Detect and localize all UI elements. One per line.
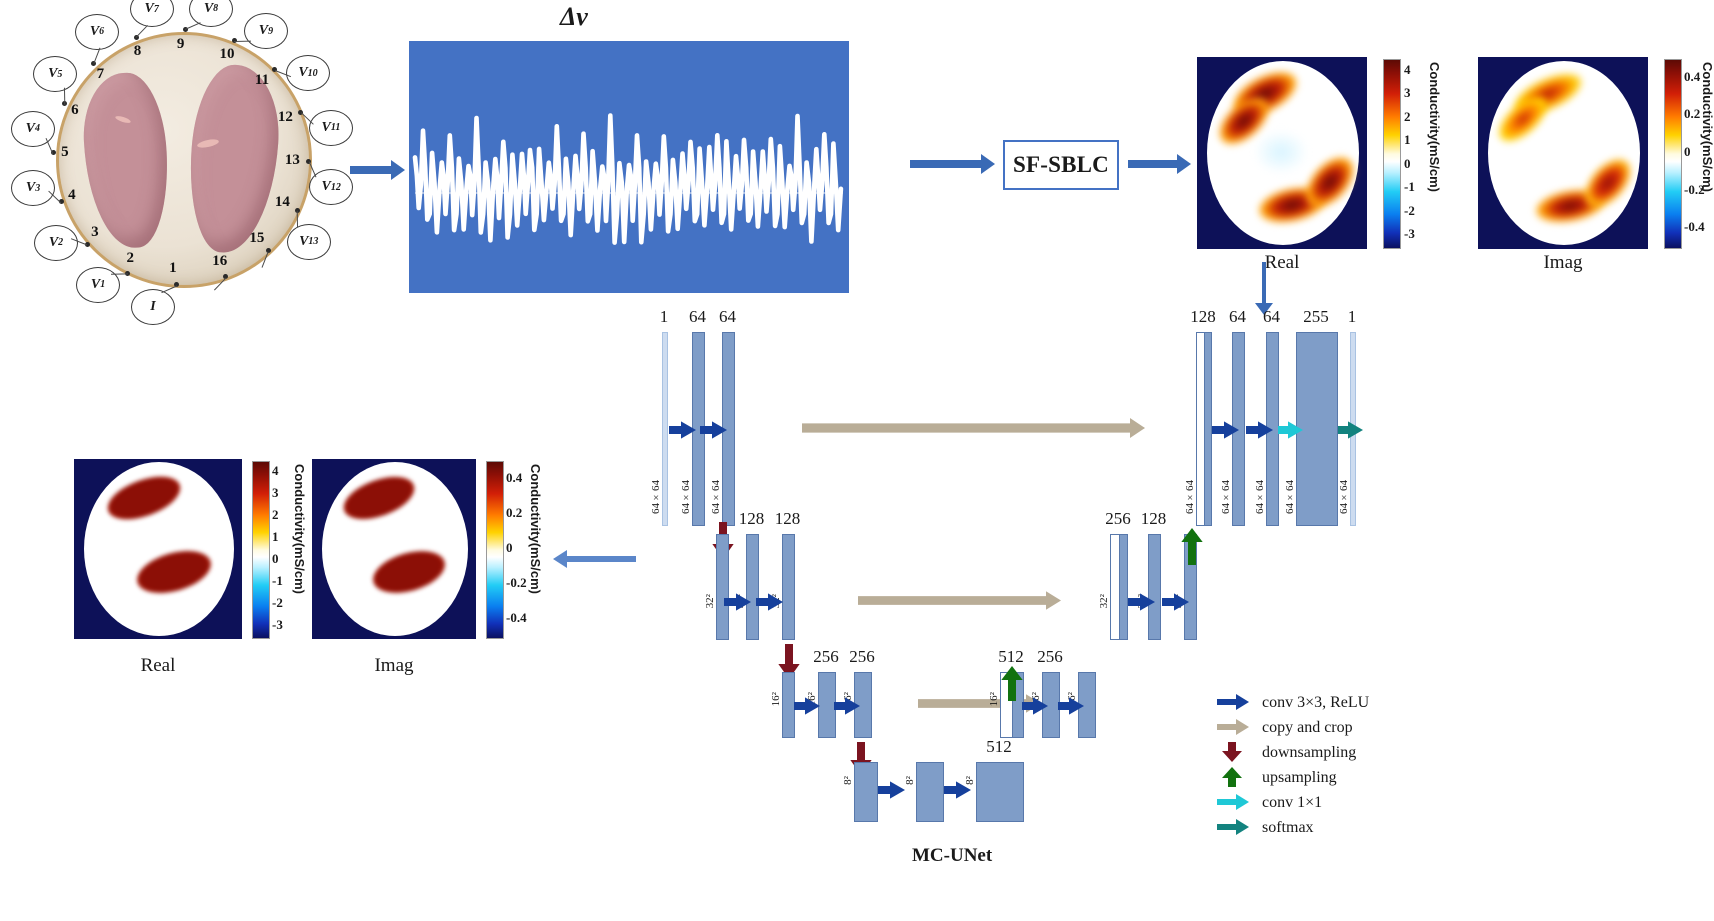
recon-bottom-imag-colorbar-label: Conductivity(mS/cm) bbox=[528, 464, 543, 594]
legend-item: conv 3×3, ReLU bbox=[1216, 690, 1369, 715]
unet-resolution-label: 64×64 bbox=[1220, 480, 1232, 514]
electrode-node-v6: V6 bbox=[75, 14, 119, 50]
unet-arrow bbox=[1022, 694, 1049, 718]
arrow-right-blue bbox=[1216, 691, 1250, 713]
unet-channel-label: 128 bbox=[726, 509, 778, 529]
unet-resolution-label: 64×64 bbox=[1184, 480, 1196, 514]
unet-feature-block bbox=[916, 762, 944, 822]
phantom-electrode-diagram: IV1V2V3V4V5V6V7V8V9V10V11V12V13123456789… bbox=[10, 4, 350, 324]
legend-item: upsampling bbox=[1216, 765, 1369, 790]
unet-channel-label: 1 bbox=[1326, 307, 1378, 327]
unet-channel-label: 256 bbox=[836, 647, 888, 667]
recon-top-real-colorbar-label: Conductivity(mS/cm) bbox=[1427, 62, 1442, 192]
legend-label: conv 3×3, ReLU bbox=[1262, 694, 1369, 712]
recon-top-real-caption: Real bbox=[1197, 252, 1367, 274]
unet-feature-block bbox=[1350, 332, 1356, 526]
unet-resolution-label: 64×64 bbox=[710, 480, 722, 514]
electrode-number-3: 3 bbox=[91, 224, 99, 241]
unet-resolution-label: 16² bbox=[988, 692, 1000, 706]
unet-resolution-label: 16² bbox=[842, 692, 854, 706]
legend-item: downsampling bbox=[1216, 740, 1369, 765]
unet-channel-label: 512 bbox=[985, 647, 1037, 667]
unet-feature-block bbox=[854, 672, 872, 738]
unet-arrow bbox=[997, 666, 1027, 702]
recon-top-real-tick: 2 bbox=[1404, 110, 1411, 123]
arrow-up-green bbox=[1216, 766, 1250, 788]
arrow-right-tan bbox=[1216, 716, 1250, 738]
recon-bottom-real-colorbar bbox=[252, 461, 270, 639]
recon-bottom-real-tick: 2 bbox=[272, 508, 279, 521]
unet-feature-block bbox=[1266, 332, 1279, 526]
unet-feature-block bbox=[1196, 332, 1212, 526]
recon-bottom-imag-colorbar bbox=[486, 461, 504, 639]
electrode-node-i: I bbox=[131, 289, 175, 325]
unet-resolution-label: 8² bbox=[904, 776, 916, 785]
unet-resolution-label: 8² bbox=[964, 776, 976, 785]
recon-bottom-real-tick: 0 bbox=[272, 552, 279, 565]
unet-feature-block bbox=[782, 534, 795, 640]
unet-arrow bbox=[794, 694, 821, 718]
network-legend: conv 3×3, ReLUcopy and cropdownsamplingu… bbox=[1216, 690, 1369, 840]
recon-top-real-tick: -2 bbox=[1404, 204, 1415, 217]
unet-arrow bbox=[1162, 590, 1190, 614]
unet-channel-label: 256 bbox=[800, 647, 852, 667]
arrow-right-cyan bbox=[1216, 791, 1250, 813]
unet-feature-block bbox=[1296, 332, 1338, 526]
unet-resolution-label: 64×64 bbox=[650, 480, 662, 514]
electrode-node-v7: V7 bbox=[130, 0, 174, 27]
unet-arrow bbox=[756, 590, 784, 614]
unet-feature-block bbox=[818, 672, 836, 738]
unet-resolution-label: 8² bbox=[842, 776, 854, 785]
unet-feature-block bbox=[746, 534, 759, 640]
recon-bottom-real-tick: -2 bbox=[272, 596, 283, 609]
arrow-recon-to-network bbox=[1262, 262, 1266, 304]
unet-feature-block bbox=[1232, 332, 1245, 526]
unet-feature-block bbox=[976, 762, 1024, 822]
unet-arrow bbox=[1177, 528, 1207, 566]
recon-top-imag-image bbox=[1478, 57, 1648, 249]
electrode-node-v12: V12 bbox=[309, 169, 353, 205]
legend-label: copy and crop bbox=[1262, 719, 1353, 737]
unet-resolution-label: 64×64 bbox=[680, 480, 692, 514]
unet-channel-label: 64 bbox=[702, 307, 754, 327]
arrow-signal-to-solver bbox=[910, 160, 982, 168]
arrow-phantom-to-signal bbox=[350, 166, 392, 174]
unet-feature-block bbox=[662, 332, 668, 526]
recon-top-real-colorbar bbox=[1383, 59, 1401, 249]
recon-top-imag-colorbar bbox=[1664, 59, 1682, 249]
unet-arrow bbox=[918, 691, 1042, 716]
recon-top-real-tick: -3 bbox=[1404, 227, 1415, 240]
unet-feature-block bbox=[1148, 534, 1161, 640]
unet-feature-block bbox=[1000, 672, 1024, 738]
unet-channel-label: 64 bbox=[672, 307, 724, 327]
arrow-down-darkred bbox=[1216, 741, 1250, 763]
unet-resolution-label: 16² bbox=[1066, 692, 1078, 706]
electrode-number-6: 6 bbox=[71, 102, 79, 119]
unet-arrow bbox=[1128, 590, 1156, 614]
unet-feature-block bbox=[1042, 672, 1060, 738]
unet-channel-label: 256 bbox=[1092, 509, 1144, 529]
unet-channel-label: 1 bbox=[638, 307, 690, 327]
electrode-number-13: 13 bbox=[285, 152, 300, 169]
recon-bottom-real-tick: 3 bbox=[272, 486, 279, 499]
recon-top-real-image bbox=[1197, 57, 1367, 249]
recon-bottom-real-tick: 4 bbox=[272, 464, 279, 477]
recon-bottom-imag-tick: 0.4 bbox=[506, 471, 522, 484]
electrode-lead bbox=[234, 40, 251, 42]
legend-label: downsampling bbox=[1262, 744, 1356, 762]
electrode-node-v3: V3 bbox=[11, 170, 55, 206]
recon-bottom-imag-tick: 0 bbox=[506, 541, 513, 554]
recon-bottom-imag-caption: Imag bbox=[312, 655, 476, 677]
unet-channel-label: 255 bbox=[1290, 307, 1342, 327]
electrode-number-15: 15 bbox=[249, 230, 264, 247]
unet-resolution-label: 16² bbox=[806, 692, 818, 706]
unet-feature-block bbox=[722, 332, 735, 526]
recon-top-real-tick: 4 bbox=[1404, 63, 1411, 76]
electrode-number-11: 11 bbox=[255, 72, 269, 89]
electrode-node-v1: V1 bbox=[76, 267, 120, 303]
unet-arrow bbox=[708, 522, 738, 560]
unet-channel-label: 256 bbox=[1024, 647, 1076, 667]
recon-bottom-real-tick: -3 bbox=[272, 618, 283, 631]
legend-item: copy and crop bbox=[1216, 715, 1369, 740]
recon-top-imag-tick: 0 bbox=[1684, 145, 1691, 158]
legend-item: conv 1×1 bbox=[1216, 790, 1369, 815]
delta-v-signal-panel bbox=[409, 41, 849, 293]
electrode-node-v8: V8 bbox=[189, 0, 233, 27]
electrode-lead bbox=[63, 88, 65, 105]
unet-arrow bbox=[1278, 418, 1304, 442]
recon-top-imag-tick: 0.4 bbox=[1684, 70, 1700, 83]
recon-bottom-imag-tick: 0.2 bbox=[506, 506, 522, 519]
electrode-node-v13: V13 bbox=[287, 224, 331, 260]
unet-arrow bbox=[846, 742, 876, 776]
unet-arrow bbox=[724, 590, 752, 614]
electrode-number-14: 14 bbox=[275, 194, 290, 211]
recon-bottom-imag-tick: -0.4 bbox=[506, 611, 527, 624]
delta-v-title: Δv bbox=[560, 2, 588, 32]
recon-bottom-real-image bbox=[74, 459, 242, 639]
legend-label: softmax bbox=[1262, 819, 1314, 837]
electrode-lead bbox=[185, 22, 201, 30]
unet-feature-block bbox=[716, 534, 729, 640]
kidney-right bbox=[185, 62, 284, 256]
electrode-number-16: 16 bbox=[212, 253, 227, 270]
recon-top-imag-tick: 0.2 bbox=[1684, 107, 1700, 120]
unet-feature-block bbox=[1184, 534, 1197, 640]
unet-arrow bbox=[1058, 694, 1085, 718]
unet-resolution-label: 64×64 bbox=[1254, 480, 1266, 514]
unet-arrow bbox=[1212, 418, 1240, 442]
unet-resolution-label: 64×64 bbox=[1284, 480, 1296, 514]
electrode-number-9: 9 bbox=[177, 36, 185, 53]
unet-arrow bbox=[878, 778, 906, 802]
unet-skip-concat-block bbox=[1196, 332, 1205, 526]
recon-top-real-tick: -1 bbox=[1404, 180, 1415, 193]
legend-label: upsampling bbox=[1262, 769, 1337, 787]
arrow-solver-to-recon bbox=[1128, 160, 1178, 168]
recon-bottom-real-colorbar-label: Conductivity(mS/cm) bbox=[292, 464, 307, 594]
unet-channel-label: 128 bbox=[1128, 509, 1180, 529]
recon-bottom-real-tick: 1 bbox=[272, 530, 279, 543]
unet-arrow bbox=[1338, 418, 1364, 442]
electrode-number-4: 4 bbox=[68, 187, 76, 204]
electrode-number-5: 5 bbox=[61, 144, 69, 161]
unet-feature-block bbox=[782, 672, 795, 738]
electrode-lead bbox=[93, 48, 100, 64]
recon-top-imag-colorbar-label: Conductivity(mS/cm) bbox=[1700, 62, 1714, 192]
legend-label: conv 1×1 bbox=[1262, 794, 1322, 812]
recon-top-real-tick: 0 bbox=[1404, 157, 1411, 170]
unet-arrow bbox=[802, 415, 1146, 441]
unet-channel-label: 128 bbox=[1177, 307, 1229, 327]
sf-sblc-box[interactable]: SF-SBLC bbox=[1003, 140, 1119, 190]
unet-arrow bbox=[774, 644, 804, 680]
recon-bottom-real-tick: -1 bbox=[272, 574, 283, 587]
unet-arrow bbox=[944, 778, 972, 802]
arrow-network-to-output bbox=[566, 556, 636, 562]
unet-channel-label: 128 bbox=[762, 509, 814, 529]
recon-top-imag-caption: Imag bbox=[1478, 252, 1648, 274]
electrode-number-12: 12 bbox=[278, 109, 293, 126]
network-title: MC-UNet bbox=[912, 845, 992, 867]
unet-resolution-label: 32² bbox=[770, 594, 782, 608]
unet-arrow bbox=[1246, 418, 1274, 442]
electrode-lead bbox=[136, 25, 148, 38]
electrode-number-10: 10 bbox=[219, 46, 234, 63]
electrode-number-1: 1 bbox=[169, 260, 177, 277]
recon-bottom-imag-tick: -0.2 bbox=[506, 576, 527, 589]
unet-resolution-label: 32² bbox=[704, 594, 716, 608]
arrow-right-teal bbox=[1216, 816, 1250, 838]
unet-resolution-label: 64×64 bbox=[1338, 480, 1350, 514]
unet-arrow bbox=[700, 418, 728, 442]
unet-channel-label: 512 bbox=[973, 737, 1025, 757]
unet-feature-block bbox=[1110, 534, 1128, 640]
electrode-number-2: 2 bbox=[127, 250, 135, 267]
unet-resolution-label: 32² bbox=[734, 594, 746, 608]
recon-top-real-tick: 3 bbox=[1404, 86, 1411, 99]
recon-top-imag-tick: -0.4 bbox=[1684, 220, 1705, 233]
recon-bottom-imag-image bbox=[312, 459, 476, 639]
electrode-number-8: 8 bbox=[134, 43, 142, 60]
unet-skip-concat-block bbox=[1110, 534, 1120, 640]
unet-resolution-label: 32² bbox=[1136, 594, 1148, 608]
legend-item: softmax bbox=[1216, 815, 1369, 840]
unet-resolution-label: 16² bbox=[770, 692, 782, 706]
unet-feature-block bbox=[854, 762, 878, 822]
unet-feature-block bbox=[1078, 672, 1096, 738]
recon-top-real-tick: 1 bbox=[1404, 133, 1411, 146]
unet-resolution-label: 32² bbox=[1098, 594, 1110, 608]
unet-arrow bbox=[858, 588, 1062, 613]
unet-resolution-label: 16² bbox=[1030, 692, 1042, 706]
unet-arrow bbox=[834, 694, 861, 718]
electrode-node-v9: V9 bbox=[244, 13, 288, 49]
electrode-node-v11: V11 bbox=[309, 110, 353, 146]
recon-bottom-real-caption: Real bbox=[74, 655, 242, 677]
kidney-left bbox=[80, 71, 171, 250]
unet-arrow bbox=[669, 418, 697, 442]
unet-resolution-label: 32² bbox=[1172, 594, 1184, 608]
delta-v-waveform bbox=[409, 41, 849, 293]
electrode-node-v5: V5 bbox=[33, 56, 77, 92]
electrode-number-7: 7 bbox=[97, 66, 105, 83]
electrode-node-v10: V10 bbox=[286, 55, 330, 91]
unet-skip-concat-block bbox=[1000, 672, 1013, 738]
unet-feature-block bbox=[692, 332, 705, 526]
electrode-node-v2: V2 bbox=[34, 225, 78, 261]
